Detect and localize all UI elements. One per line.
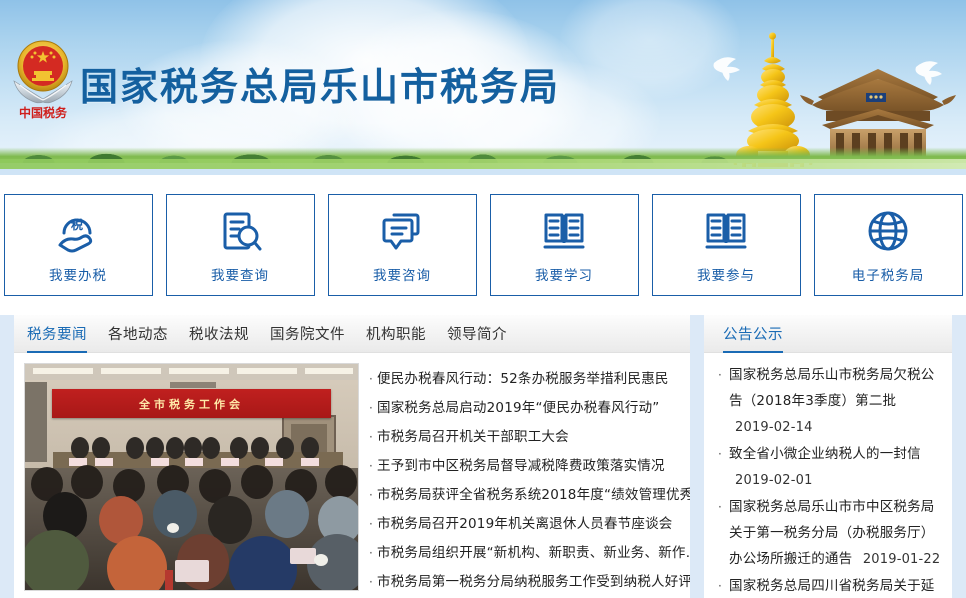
tab-shuishoufagui[interactable]: 税收法规 bbox=[189, 315, 249, 353]
notice-item-text: 国家税务总局乐山市税务局欠税公告（2018年3季度）第二批 bbox=[729, 367, 935, 409]
news-item[interactable]: ·国家税务总局启动2019年“便民办税春风行动” bbox=[369, 394, 690, 423]
bullet-icon: · bbox=[718, 573, 722, 598]
quicknav-card-chaxun[interactable]: 我要查询 bbox=[166, 194, 315, 296]
page-root: 中国税务 国家税务总局乐山市税务局 税 我要办税 bbox=[0, 0, 966, 598]
bullet-icon: · bbox=[369, 517, 373, 531]
notice-panel: 公告公示 · 国家税务总局乐山市税务局欠税公告（2018年3季度）第二批 201… bbox=[704, 315, 952, 598]
bullet-icon: · bbox=[718, 441, 722, 467]
bullet-icon: · bbox=[369, 575, 373, 589]
notice-item-date: 2019-01-22 bbox=[863, 552, 941, 567]
news-item-text: 国家税务总局启动2019年“便民办税春风行动” bbox=[377, 400, 659, 416]
bullet-icon: · bbox=[369, 372, 373, 386]
news-tabbar: 税务要闻 各地动态 税收法规 国务院文件 机构职能 领导简介 bbox=[14, 315, 690, 353]
site-banner: 中国税务 国家税务总局乐山市税务局 bbox=[0, 0, 966, 175]
news-item-text: 市税务局第一税务分局纳税服务工作受到纳税人好评 bbox=[377, 574, 690, 590]
notice-item[interactable]: · 国家税务总局四川省税务局关于延长2019 bbox=[716, 573, 942, 598]
notice-list: · 国家税务总局乐山市税务局欠税公告（2018年3季度）第二批 2019-02-… bbox=[704, 353, 952, 598]
tab-shuiwuyaowen[interactable]: 税务要闻 bbox=[27, 315, 87, 353]
news-item[interactable]: ·市税务局获评全省税务系统2018年度“绩效管理优秀… bbox=[369, 481, 690, 510]
bullet-icon: · bbox=[369, 488, 373, 502]
tab-gedidongtai[interactable]: 各地动态 bbox=[108, 315, 168, 353]
notice-item[interactable]: · 国家税务总局乐山市市中区税务局关于第一税务分局（办税服务厅）办公场所搬迁的通… bbox=[716, 494, 942, 573]
open-book-icon bbox=[700, 207, 752, 255]
tab-guowuyuanwenjian[interactable]: 国务院文件 bbox=[270, 315, 345, 353]
news-item[interactable]: ·市税务局召开2019年机关离退休人员春节座谈会 bbox=[369, 510, 690, 539]
notice-panel-title: 公告公示 bbox=[723, 315, 783, 353]
emblem-caption: 中国税务 bbox=[19, 105, 68, 120]
conference-photo[interactable]: 全市税务工作会 bbox=[24, 363, 359, 591]
notice-panel-header: 公告公示 bbox=[704, 315, 952, 353]
notice-item[interactable]: · 国家税务总局乐山市税务局欠税公告（2018年3季度）第二批 2019-02-… bbox=[716, 362, 942, 441]
bullet-icon: · bbox=[369, 430, 373, 444]
quicknav-card-canyu[interactable]: 我要参与 bbox=[652, 194, 801, 296]
svg-text:税: 税 bbox=[71, 217, 83, 232]
quicknav-label: 我要查询 bbox=[211, 264, 269, 284]
speech-bubble-icon bbox=[376, 207, 428, 255]
tab-jigouzhineng[interactable]: 机构职能 bbox=[366, 315, 426, 353]
quicknav-card-dianzishuiwuju[interactable]: 电子税务局 bbox=[814, 194, 963, 296]
quick-nav-strip: 税 我要办税 我要查询 bbox=[0, 175, 966, 315]
china-taxation-emblem-icon: 中国税务 bbox=[10, 33, 76, 121]
open-book-icon bbox=[538, 207, 590, 255]
quicknav-label: 我要咨询 bbox=[373, 264, 431, 284]
news-item-text: 便民办税春风行动：52条办税服务举措利民惠民 bbox=[377, 371, 669, 387]
news-item-text: 王予到市中区税务局督导减税降费政策落实情况 bbox=[377, 458, 665, 474]
quicknav-label: 我要办税 bbox=[49, 264, 107, 284]
page-content: 税 我要办税 我要查询 bbox=[0, 175, 966, 598]
photo-banner-text: 全市税务工作会 bbox=[52, 389, 332, 418]
quicknav-card-banshui[interactable]: 税 我要办税 bbox=[4, 194, 153, 296]
lower-panels: 税务要闻 各地动态 税收法规 国务院文件 机构职能 领导简介 bbox=[0, 315, 966, 598]
news-item-text: 市税务局组织开展“新机构、新职责、新业务、新作… bbox=[377, 545, 690, 561]
globe-icon bbox=[862, 207, 914, 255]
document-search-icon bbox=[214, 207, 266, 255]
quicknav-card-xuexi[interactable]: 我要学习 bbox=[490, 194, 639, 296]
news-item-text: 市税务局召开机关干部职工大会 bbox=[377, 429, 569, 445]
notice-item-text: 致全省小微企业纳税人的一封信 bbox=[729, 446, 921, 462]
quicknav-label: 我要参与 bbox=[697, 264, 755, 284]
news-item[interactable]: ·市税务局组织开展“新机构、新职责、新业务、新作… bbox=[369, 539, 690, 568]
bullet-icon: · bbox=[718, 494, 722, 520]
hand-holding-tax-icon: 税 bbox=[52, 207, 104, 255]
quicknav-card-zixun[interactable]: 我要咨询 bbox=[328, 194, 477, 296]
bullet-icon: · bbox=[369, 459, 373, 473]
news-panel: 税务要闻 各地动态 税收法规 国务院文件 机构职能 领导简介 bbox=[14, 315, 690, 598]
notice-item-text: 国家税务总局四川省税务局关于延长2019 bbox=[729, 578, 935, 598]
news-list: ·便民办税春风行动：52条办税服务举措利民惠民 ·国家税务总局启动2019年“便… bbox=[369, 363, 690, 597]
notice-item[interactable]: · 致全省小微企业纳税人的一封信 2019-02-01 bbox=[716, 441, 942, 494]
news-item-text: 市税务局召开2019年机关离退休人员春节座谈会 bbox=[377, 516, 672, 532]
quicknav-label: 我要学习 bbox=[535, 264, 593, 284]
news-item[interactable]: ·市税务局召开机关干部职工大会 bbox=[369, 423, 690, 452]
news-item-text: 市税务局获评全省税务系统2018年度“绩效管理优秀… bbox=[377, 487, 690, 503]
notice-item-date: 2019-02-14 bbox=[735, 420, 813, 435]
notice-item-date: 2019-02-01 bbox=[735, 473, 813, 488]
site-title: 国家税务总局乐山市税务局 bbox=[80, 56, 560, 111]
bullet-icon: · bbox=[369, 401, 373, 415]
news-item[interactable]: ·便民办税春风行动：52条办税服务举措利民惠民 bbox=[369, 365, 690, 394]
news-item[interactable]: ·王予到市中区税务局督导减税降费政策落实情况 bbox=[369, 452, 690, 481]
quicknav-label: 电子税务局 bbox=[852, 264, 925, 284]
bullet-icon: · bbox=[369, 546, 373, 560]
tab-lingdaojianjie[interactable]: 领导简介 bbox=[447, 315, 507, 353]
bullet-icon: · bbox=[718, 362, 722, 388]
news-body: 全市税务工作会 ·便民办税春风行动：52条办税服务举措利民惠民 ·国家税务总局启… bbox=[14, 353, 690, 597]
news-item[interactable]: ·市税务局第一税务分局纳税服务工作受到纳税人好评 bbox=[369, 568, 690, 597]
